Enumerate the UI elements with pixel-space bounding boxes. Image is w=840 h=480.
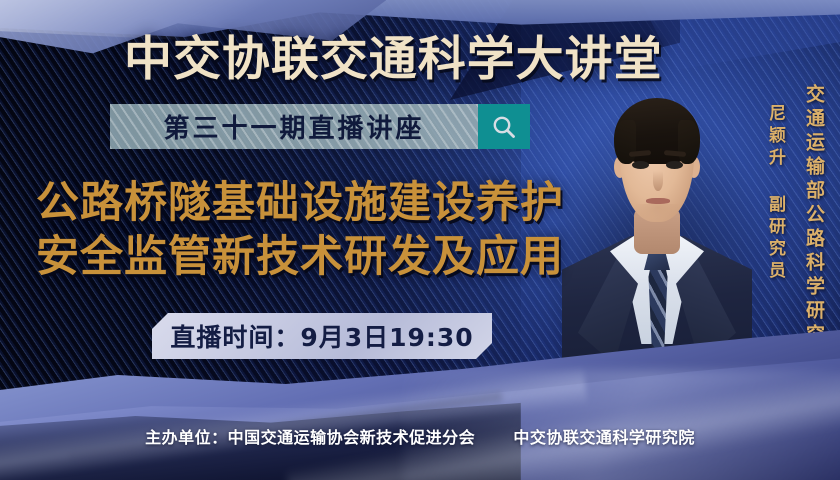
portrait-eye-right	[666, 161, 683, 169]
episode-label: 第三十一期直播讲座	[163, 108, 424, 145]
portrait-hair-side-right	[678, 120, 700, 164]
footer-co-organizer: 中交协联交通科学研究院	[513, 428, 695, 447]
speaker-organization: 交通运输部公路科学研究院	[801, 84, 828, 372]
live-stream-poster: 交通运输部公路科学研究院 尼颖升 副研究员 中交协联交通科学大讲堂 第三十一期直…	[0, 0, 840, 480]
page-title: 中交协联交通科学大讲堂	[124, 20, 663, 89]
portrait-eye-left	[632, 161, 649, 169]
portrait-chin	[634, 204, 682, 222]
portrait-nose	[653, 171, 663, 191]
broadcast-time-label: 直播时间：9月3日19:30	[170, 318, 473, 354]
footer: 主办单位：中国交通运输协会新技术促进分会 中交协联交通科学研究院	[0, 424, 840, 448]
footer-organizer: 主办单位：中国交通运输协会新技术促进分会	[145, 428, 475, 447]
episode-bar: 第三十一期直播讲座	[110, 104, 530, 149]
episode-bar-body: 第三十一期直播讲座	[110, 104, 478, 149]
portrait-hair-side-left	[614, 120, 636, 164]
lecture-headline: 公路桥隧基础设施建设养护 安全监管新技术研发及应用	[36, 176, 564, 284]
speaker-name-title: 尼颖升 副研究员	[763, 104, 788, 283]
search-icon[interactable]	[478, 104, 530, 149]
headline-line-1: 公路桥隧基础设施建设养护	[36, 178, 564, 228]
broadcast-time-badge: 直播时间：9月3日19:30	[152, 313, 492, 359]
headline-line-2: 安全监管新技术研发及应用	[36, 230, 564, 284]
